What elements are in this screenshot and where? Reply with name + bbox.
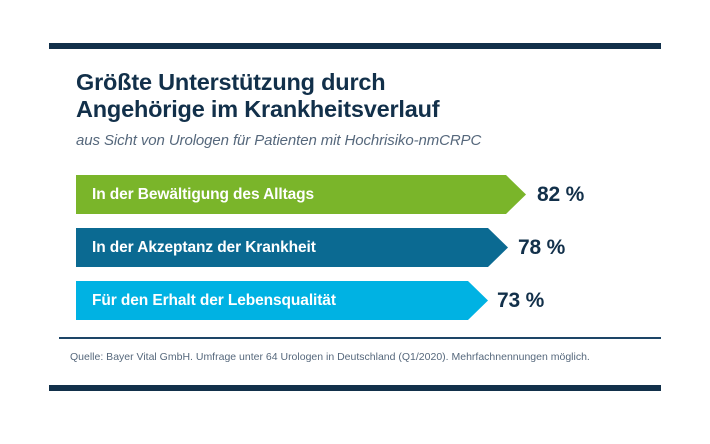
- source-note: Quelle: Bayer Vital GmbH. Umfrage unter …: [70, 350, 670, 364]
- bottom-rule: [49, 385, 661, 391]
- source-divider-rule: [59, 337, 661, 339]
- bar-value: 78 %: [518, 228, 565, 267]
- bar-arrow-shape: [76, 281, 488, 320]
- bar-value: 73 %: [497, 281, 544, 320]
- bar-arrow-shape: [76, 175, 526, 214]
- bar-arrow-shape: [76, 228, 508, 267]
- infographic-card: Größte Unterstützung durch Angehörige im…: [0, 0, 710, 444]
- bar-value: 82 %: [537, 175, 584, 214]
- bar-chart: In der Bewältigung des Alltags 82 % In d…: [0, 0, 710, 444]
